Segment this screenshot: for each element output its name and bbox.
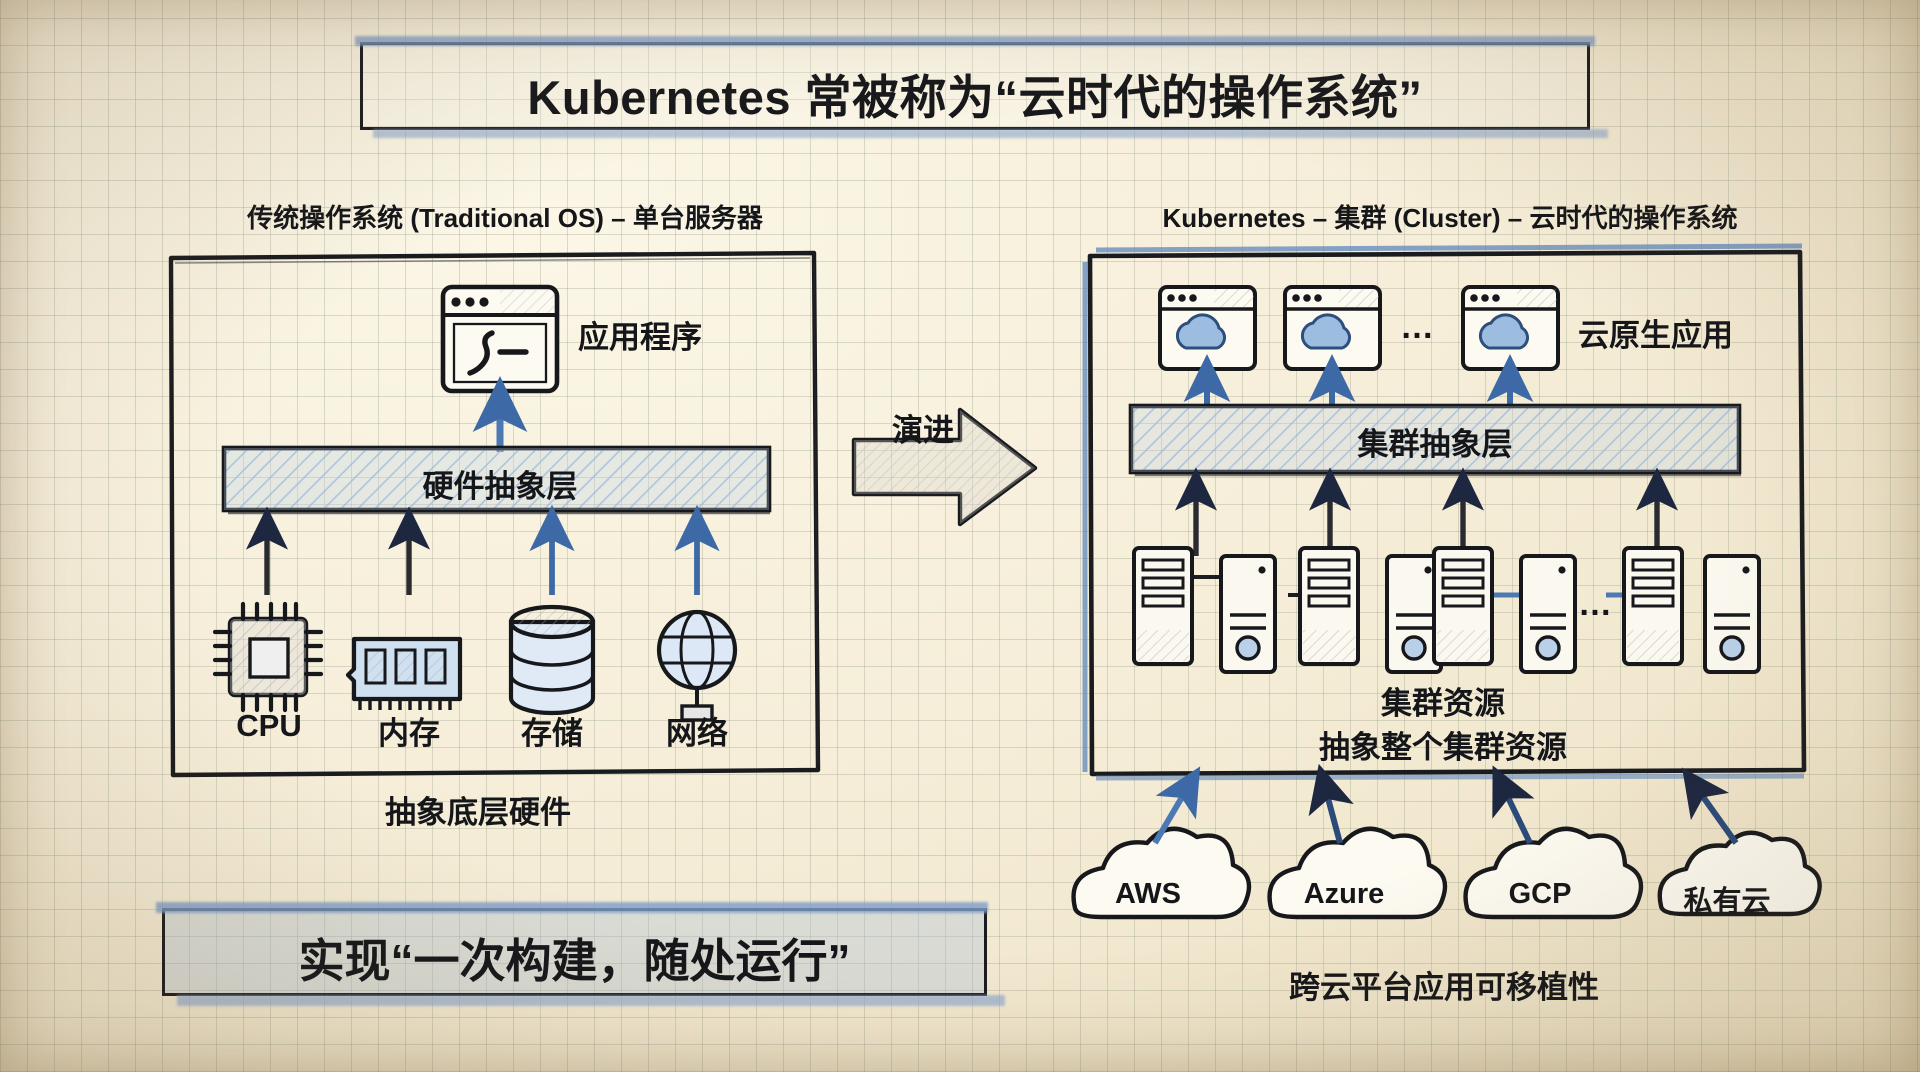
arrows-cluster-to-apps [1207,378,1510,406]
title-banner: Kubernetes 常被称为“云时代的操作系统” [360,42,1590,130]
whiteboard-diagram: Kubernetes 常被称为“云时代的操作系统” 传统操作系统 (Tradit… [0,0,1920,1072]
cluster-resources-title: 集群资源 [1381,678,1505,723]
nodes-ellipsis: … [1578,585,1614,624]
cloud-native-apps-label: 云原生应用 [1578,310,1733,355]
hardware-label-memory: 内存 [378,708,440,753]
hardware-abstraction-label: 硬件抽象层 [423,461,578,506]
cloud-label-azure: Azure [1304,878,1385,911]
hardware-label-network: 网络 [666,708,728,753]
cloud-native-app-icons [1160,287,1558,369]
cloud-label-aws: AWS [1115,878,1181,911]
right-panel-heading: Kubernetes – 集群 (Cluster) – 云时代的操作系统 [1163,198,1738,235]
slogan-banner: 实现“一次构建，随处运行” [162,908,987,996]
app-window-3 [1463,287,1558,369]
hardware-label-cpu: CPU [236,708,301,744]
title-shadow-top [355,36,1595,46]
cloud-label-private: 私有云 [1683,878,1770,920]
application-label: 应用程序 [578,312,702,357]
slogan-text: 实现“一次构建，随处运行” [165,925,984,991]
arrows-clouds-to-cluster [1155,787,1736,843]
title-shadow-bottom [373,129,1608,138]
cluster-resources-subtitle: 抽象整个集群资源 [1319,722,1567,767]
storage-icon [511,607,593,713]
app-window-2 [1285,287,1380,369]
evolve-label: 演进 [892,405,954,450]
slogan-shadow-top [156,902,988,913]
cluster-abstraction-label: 集群抽象层 [1358,419,1513,464]
memory-icon [348,639,460,710]
network-icon [659,612,735,720]
application-window-icon [443,287,557,391]
left-panel-caption: 抽象底层硬件 [385,787,571,832]
cpu-icon [215,604,321,710]
arrows-hardware-to-hal [267,528,697,595]
page-title: Kubernetes 常被称为“云时代的操作系统” [363,59,1587,128]
app-window-1 [1160,287,1255,369]
apps-ellipsis: … [1400,308,1436,347]
clouds-caption: 跨云平台应用可移植性 [1289,962,1599,1007]
arrows-nodes-to-cluster [1196,489,1657,556]
slogan-shadow-bottom [177,995,1005,1006]
cloud-label-gcp: GCP [1509,878,1572,911]
cluster-server-nodes [1134,548,1759,672]
left-panel-heading: 传统操作系统 (Traditional OS) – 单台服务器 [247,198,763,235]
hardware-label-storage: 存储 [521,708,583,753]
